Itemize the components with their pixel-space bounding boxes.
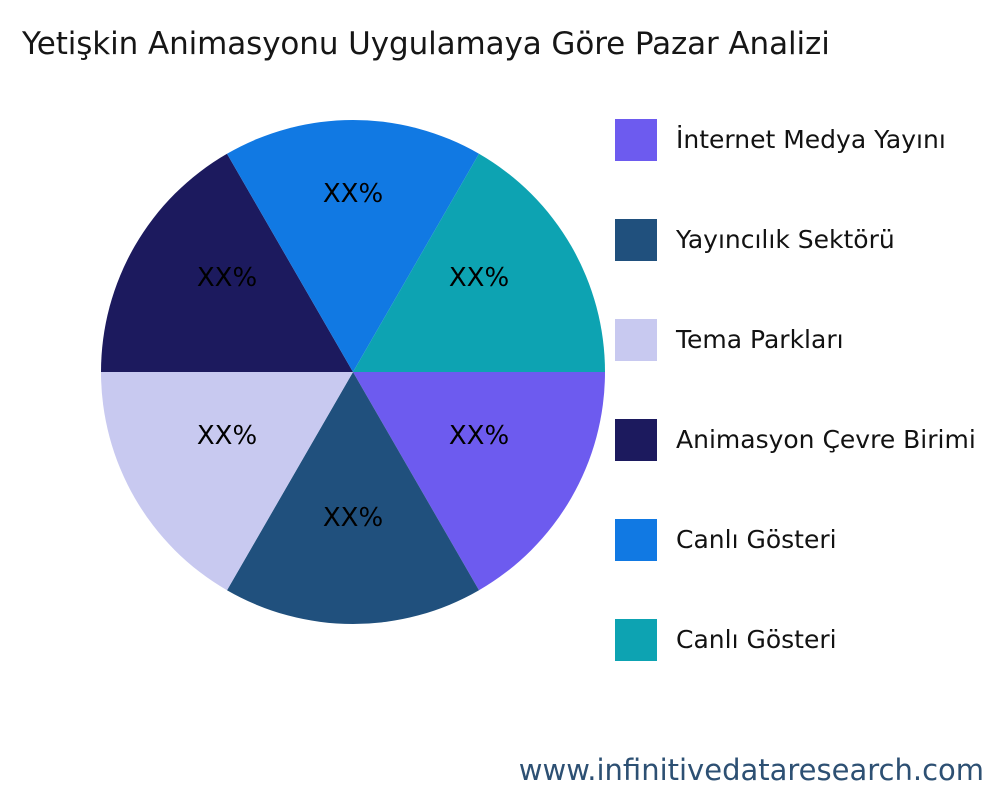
legend-item[interactable]: İnternet Medya Yayını [615, 118, 1000, 162]
legend-item-label: Canlı Gösteri [676, 625, 837, 655]
legend-item-label: Canlı Gösteri [676, 525, 837, 555]
legend-color-swatch [615, 219, 657, 261]
pie-slice-value-label: XX% [449, 421, 509, 451]
legend-color-swatch [615, 619, 657, 661]
legend-item-label: Animasyon Çevre Birimi [676, 425, 976, 455]
legend-item-label: Yayıncılık Sektörü [676, 225, 895, 255]
legend-color-swatch [615, 119, 657, 161]
pie-slice-value-label: XX% [197, 421, 257, 451]
legend-color-swatch [615, 519, 657, 561]
legend-item[interactable]: Canlı Gösteri [615, 618, 1000, 662]
legend-item[interactable]: Animasyon Çevre Birimi [615, 418, 1000, 462]
chart-legend: İnternet Medya YayınıYayıncılık SektörüT… [615, 118, 1000, 678]
legend-color-swatch [615, 419, 657, 461]
pie-chart-figure: Yetişkin Animasyonu Uygulamaya Göre Paza… [0, 0, 1000, 800]
page-title: Yetişkin Animasyonu Uygulamaya Göre Paza… [22, 24, 982, 64]
legend-item[interactable]: Yayıncılık Sektörü [615, 218, 1000, 262]
legend-item-label: Tema Parkları [676, 325, 844, 355]
legend-item[interactable]: Tema Parkları [615, 318, 1000, 362]
legend-color-swatch [615, 319, 657, 361]
legend-item-label: İnternet Medya Yayını [676, 125, 946, 155]
pie-slice-value-label: XX% [449, 263, 509, 293]
pie-svg: XX%XX%XX%XX%XX%XX% [101, 120, 605, 624]
pie-chart-plot-area: XX%XX%XX%XX%XX%XX% [101, 120, 605, 624]
pie-slice-value-label: XX% [197, 263, 257, 293]
source-website-url: www.infinitivedataresearch.com [0, 752, 984, 788]
pie-slice-value-label: XX% [323, 179, 383, 209]
legend-item[interactable]: Canlı Gösteri [615, 518, 1000, 562]
pie-slice-value-label: XX% [323, 503, 383, 533]
